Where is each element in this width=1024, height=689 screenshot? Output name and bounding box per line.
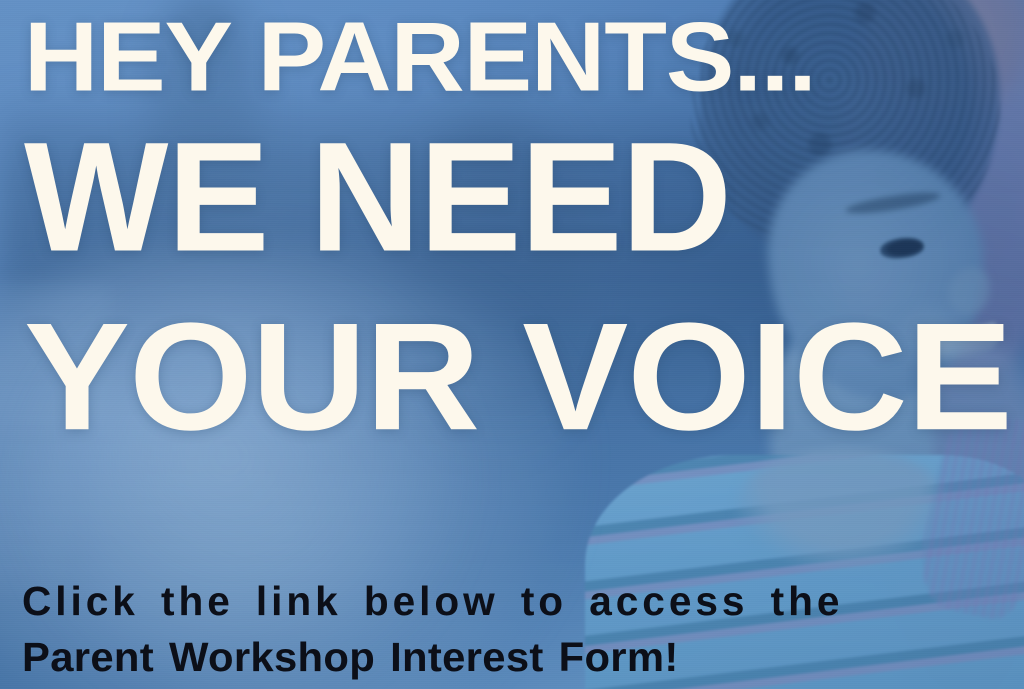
headline-line-1: HEY PARENTS... (24, 18, 816, 98)
call-to-action-line-1: Click the link below to access the (22, 578, 843, 625)
headline-line-3: YOUR VOICE (24, 314, 1012, 439)
call-to-action-line-2: Parent Workshop Interest Form! (22, 634, 679, 681)
headline-line-2: WE NEED (24, 133, 731, 261)
text-content: HEY PARENTS... WE NEED YOUR VOICE Click … (0, 0, 1024, 689)
parent-workshop-flyer: HEY PARENTS... WE NEED YOUR VOICE Click … (0, 0, 1024, 689)
